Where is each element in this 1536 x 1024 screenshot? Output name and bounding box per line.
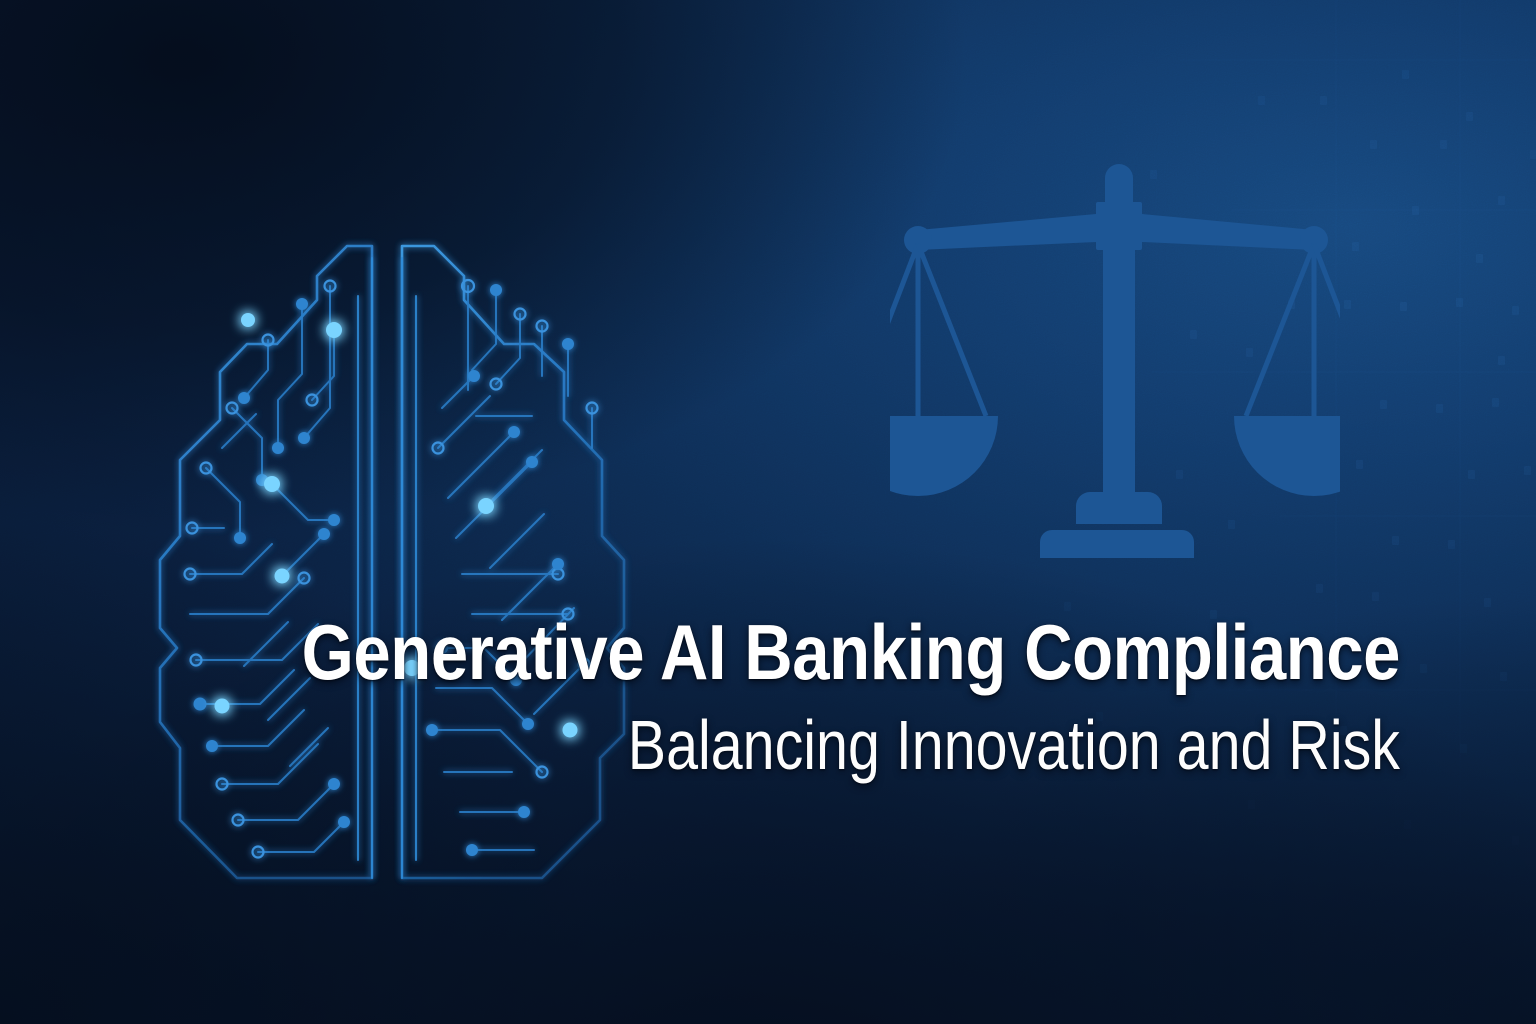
title-text-block: Generative AI Banking Compliance Balanci… bbox=[0, 612, 1400, 782]
scales-beam-left bbox=[918, 214, 1096, 250]
scales-column bbox=[1103, 250, 1135, 498]
scales-hub bbox=[1096, 202, 1142, 250]
scales-beam-right bbox=[1142, 214, 1314, 250]
page-subtitle: Balancing Innovation and Risk bbox=[252, 709, 1400, 782]
scales-base-upper bbox=[1076, 492, 1162, 524]
page-title: Generative AI Banking Compliance bbox=[196, 612, 1400, 693]
scales-pan-left bbox=[890, 416, 998, 496]
scales-finial bbox=[1105, 164, 1133, 202]
title-card-canvas: Generative AI Banking Compliance Balanci… bbox=[0, 0, 1536, 1024]
brain-midline-traces bbox=[358, 258, 416, 878]
scales-pan-right bbox=[1234, 416, 1340, 496]
brain-outline-right bbox=[402, 246, 624, 878]
scales-base-lower bbox=[1040, 530, 1194, 558]
scales-of-justice-icon bbox=[890, 160, 1340, 560]
